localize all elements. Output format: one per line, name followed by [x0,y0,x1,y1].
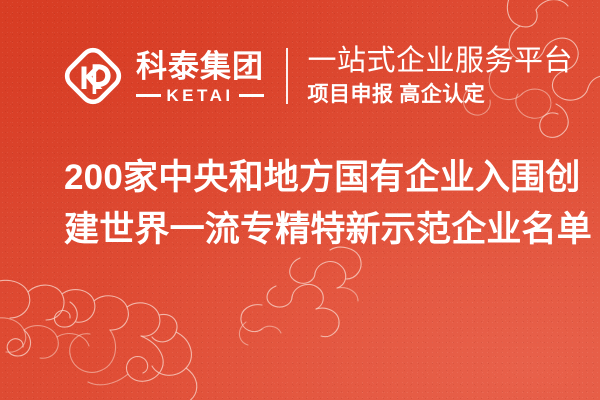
tagline-primary: 一站式企业服务平台 [308,46,574,77]
banner-header: 科泰集团 KETAI 一站式企业服务平台 项目申报 高企认定 [62,42,573,110]
wordmark-rule-right [239,94,264,97]
ketai-logo-icon [62,45,124,107]
brand-name-cn: 科泰集团 [136,51,264,82]
tagline-block: 一站式企业服务平台 项目申报 高企认定 [308,46,574,106]
headline-block: 200家中央和地方国有企业入围创 建世界一流专精特新示范企业名单 [64,152,556,256]
ketai-wordmark: 科泰集团 KETAI [136,49,264,104]
brand-name-en: KETAI [166,87,233,104]
headline-line-1: 200家中央和地方国有企业入围创 [64,152,556,204]
brand-name-en-row: KETAI [136,87,264,104]
wordmark-rule-left [136,94,161,97]
promo-banner: 科泰集团 KETAI 一站式企业服务平台 项目申报 高企认定 200家中央和地方… [0,0,600,400]
headline-line-2: 建世界一流专精特新示范企业名单 [64,204,556,256]
header-divider [286,48,288,104]
tagline-secondary: 项目申报 高企认定 [308,83,574,106]
